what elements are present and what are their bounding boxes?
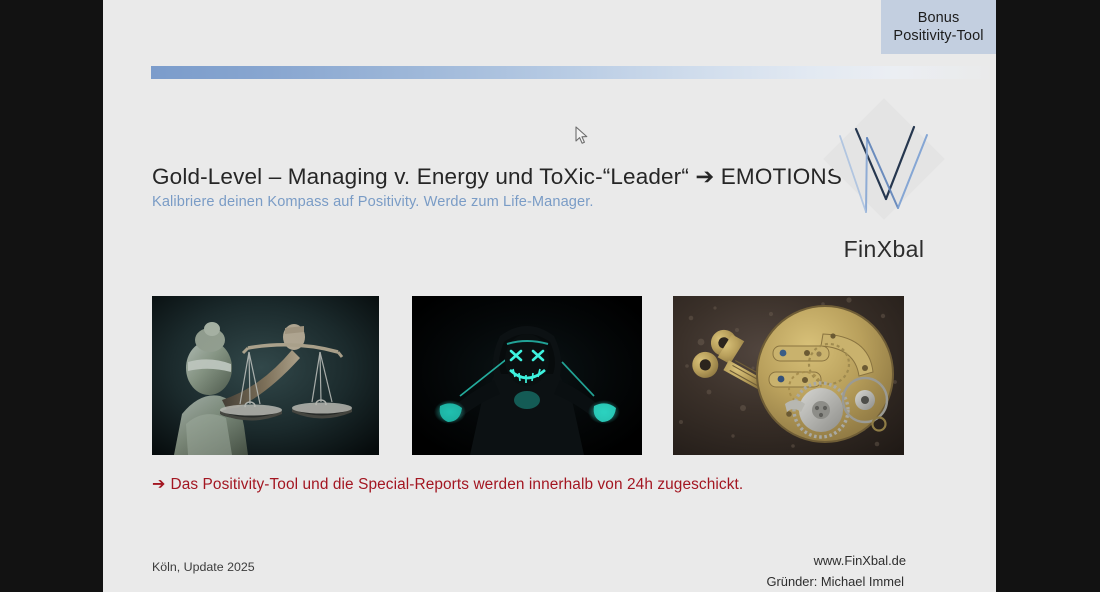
footer-location-update: Köln, Update 2025 bbox=[152, 560, 255, 574]
lady-justice-photo bbox=[152, 296, 379, 455]
note-arrow-icon: ➔ bbox=[152, 476, 166, 493]
masked-puppeteer-photo bbox=[412, 296, 642, 455]
note-text: Das Positivity-Tool und die Special-Repo… bbox=[171, 476, 744, 493]
footer-founder: Gründer: Michael Immel bbox=[636, 572, 996, 592]
delivery-note: ➔Das Positivity-Tool und die Special-Rep… bbox=[152, 474, 743, 494]
bonus-badge-line1: Bonus bbox=[918, 9, 960, 27]
footer-website: www.FinXbal.de bbox=[636, 551, 996, 572]
watch-movement-photo bbox=[673, 296, 904, 455]
brand-logo-block: FinXbal bbox=[789, 100, 979, 263]
page-title: Gold-Level – Managing v. Energy und ToXi… bbox=[152, 164, 842, 190]
presentation-slide: Bonus Positivity-Tool Gold-Level – Manag… bbox=[103, 0, 996, 592]
finxbal-logo-icon bbox=[824, 100, 944, 218]
page-subtitle: Kalibriere deinen Kompass auf Positivity… bbox=[152, 194, 594, 210]
brand-wordmark: FinXbal bbox=[789, 236, 979, 263]
bonus-badge: Bonus Positivity-Tool bbox=[881, 0, 996, 54]
accent-bar bbox=[151, 66, 996, 79]
footer-contact: www.FinXbal.de Gründer: Michael Immel bbox=[636, 551, 996, 592]
bonus-badge-line2: Positivity-Tool bbox=[893, 27, 983, 45]
